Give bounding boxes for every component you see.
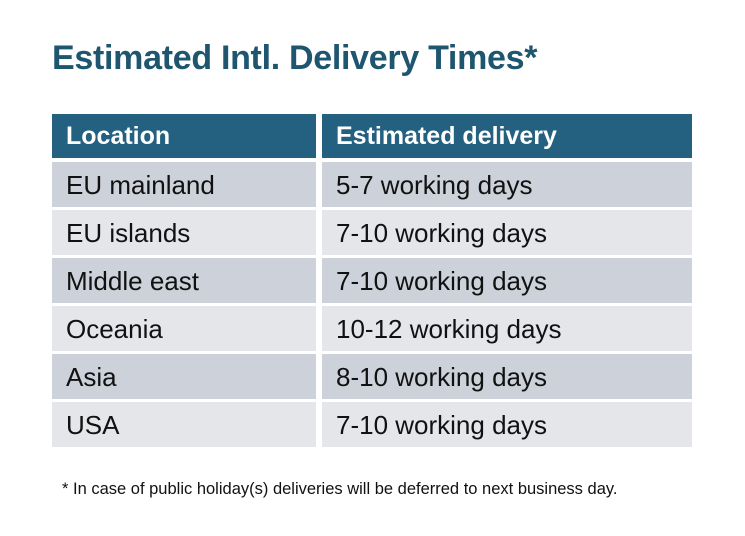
cell-location: Oceania — [52, 306, 316, 351]
table-row: Oceania 10-12 working days — [52, 306, 692, 351]
cell-location: USA — [52, 402, 316, 447]
cell-location: EU mainland — [52, 162, 316, 207]
column-header-location: Location — [52, 114, 316, 158]
delivery-times-table: Location Estimated delivery EU mainland … — [52, 114, 692, 447]
table-row: EU islands 7-10 working days — [52, 210, 692, 255]
table-header-row: Location Estimated delivery — [52, 114, 692, 158]
cell-estimated-delivery: 8-10 working days — [322, 354, 692, 399]
table-row: Middle east 7-10 working days — [52, 258, 692, 303]
table-row: EU mainland 5-7 working days — [52, 162, 692, 207]
cell-estimated-delivery: 5-7 working days — [322, 162, 692, 207]
cell-estimated-delivery: 7-10 working days — [322, 402, 692, 447]
page-title: Estimated Intl. Delivery Times* — [52, 36, 537, 80]
footnote-text: * In case of public holiday(s) deliverie… — [62, 478, 617, 500]
column-header-estimated-delivery: Estimated delivery — [322, 114, 692, 158]
cell-estimated-delivery: 10-12 working days — [322, 306, 692, 351]
cell-location: EU islands — [52, 210, 316, 255]
cell-estimated-delivery: 7-10 working days — [322, 210, 692, 255]
cell-estimated-delivery: 7-10 working days — [322, 258, 692, 303]
delivery-times-page: Estimated Intl. Delivery Times* Location… — [0, 0, 745, 536]
table-row: USA 7-10 working days — [52, 402, 692, 447]
cell-location: Asia — [52, 354, 316, 399]
table-row: Asia 8-10 working days — [52, 354, 692, 399]
cell-location: Middle east — [52, 258, 316, 303]
